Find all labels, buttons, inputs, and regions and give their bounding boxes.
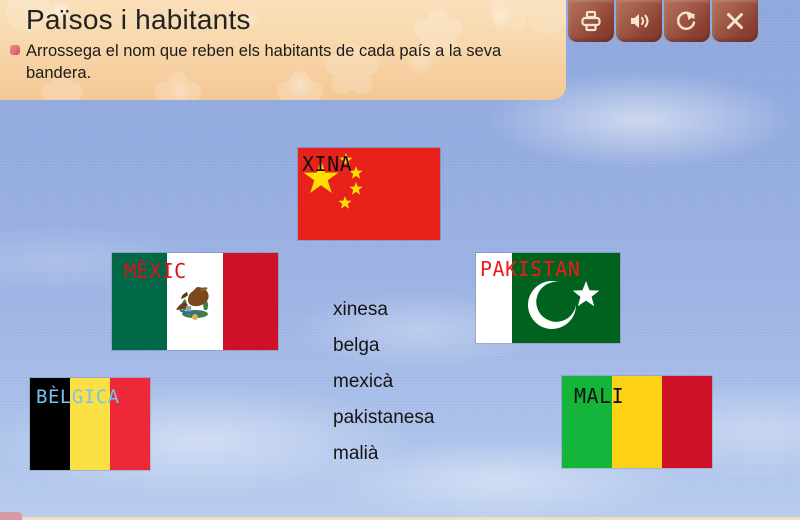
page-title: Països i habitants xyxy=(26,4,251,36)
flag-label-china[interactable]: XINA xyxy=(302,152,352,176)
flag-belgium[interactable]: BÈLGICA xyxy=(30,378,150,470)
refresh-icon xyxy=(675,9,699,33)
bottom-left-marker xyxy=(0,512,22,520)
close-button[interactable] xyxy=(712,0,758,42)
toolbar xyxy=(568,0,758,42)
bullet-icon xyxy=(10,45,20,55)
activity-stage: XINA MÈXIC PA xyxy=(0,0,800,520)
word-item-xinesa[interactable]: xinesa xyxy=(333,292,434,328)
printer-icon xyxy=(579,9,603,33)
mexico-eagle-emblem-icon xyxy=(173,280,217,324)
speaker-icon xyxy=(627,9,651,33)
flag-mexico[interactable]: MÈXIC xyxy=(112,253,278,350)
word-item-mexica[interactable]: mexicà xyxy=(333,364,434,400)
header-panel: Països i habitants Arrossega el nom que … xyxy=(0,0,566,100)
flag-label-mali[interactable]: MALI xyxy=(574,384,624,408)
flag-label-pakistan[interactable]: PAKISTAN xyxy=(480,257,580,281)
word-item-belga[interactable]: belga xyxy=(333,328,434,364)
flag-mali[interactable]: MALI xyxy=(562,376,712,468)
sound-button[interactable] xyxy=(616,0,662,42)
redo-button[interactable] xyxy=(664,0,710,42)
word-item-pakistanesa[interactable]: pakistanesa xyxy=(333,400,434,436)
flag-label-belgium[interactable]: BÈLGICA xyxy=(36,386,120,408)
instruction-text: Arrossega el nom que reben els habitants… xyxy=(26,40,536,84)
draggable-word-list: xinesa belga mexicà pakistanesa malià xyxy=(333,292,434,472)
word-item-malia[interactable]: malià xyxy=(333,436,434,472)
flag-pakistan[interactable]: PAKISTAN xyxy=(476,253,620,343)
flag-china[interactable]: XINA xyxy=(298,148,440,240)
close-icon xyxy=(723,9,747,33)
flag-label-mexico[interactable]: MÈXIC xyxy=(124,259,187,283)
print-button[interactable] xyxy=(568,0,614,42)
